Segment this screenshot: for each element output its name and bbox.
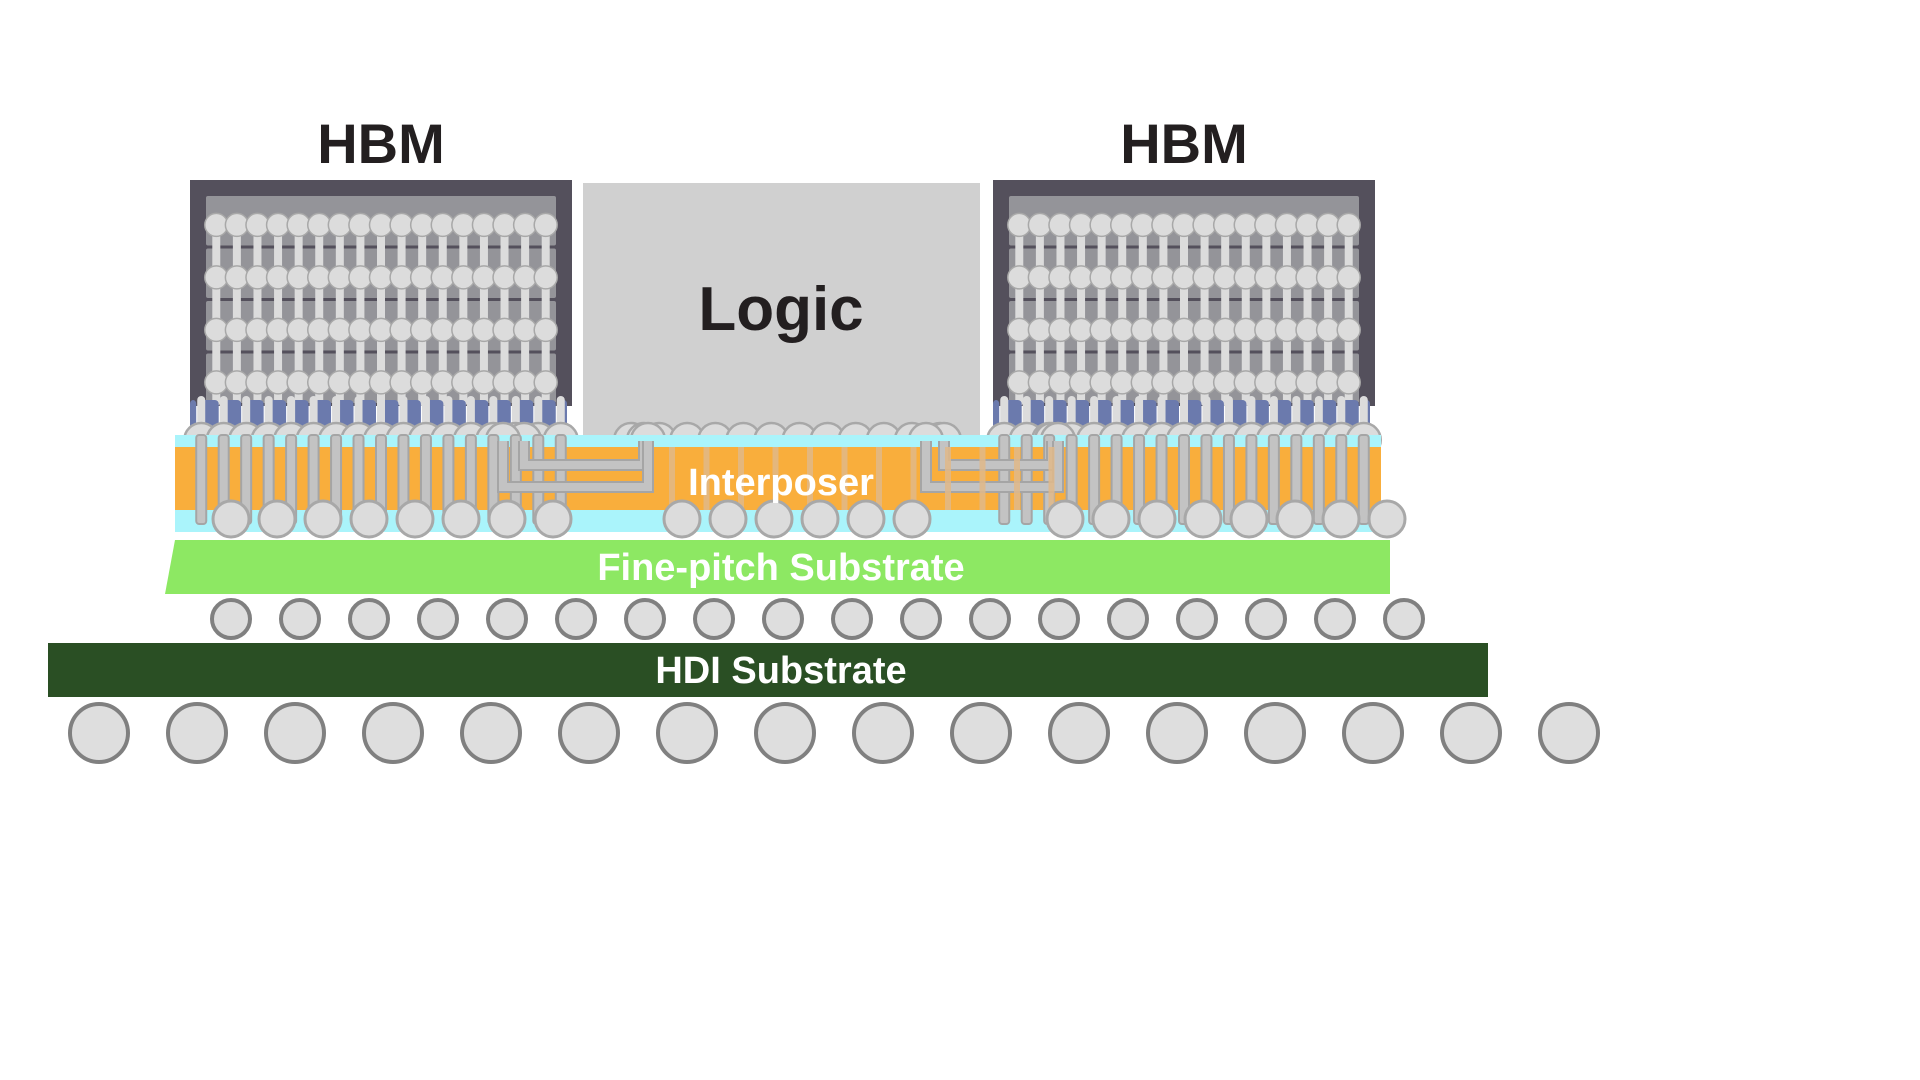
tsv-microbump	[411, 318, 434, 341]
bga-ball-mid	[695, 600, 733, 638]
tsv-microbump	[493, 213, 516, 236]
tsv-microbump	[1152, 213, 1175, 236]
tsv-microbump	[1090, 318, 1113, 341]
tsv-microbump	[1234, 318, 1257, 341]
bga-ball-mid	[764, 600, 802, 638]
tsv-microbump	[1152, 266, 1175, 289]
bga-ball-bottom	[952, 704, 1010, 762]
tsv-microbump	[1275, 213, 1298, 236]
tsv-microbump	[308, 371, 331, 394]
tsv-microbump	[267, 318, 290, 341]
tsv-microbump	[1173, 318, 1196, 341]
tsv-microbump	[431, 213, 454, 236]
tsv-microbump	[1008, 371, 1031, 394]
tsv-microbump	[534, 318, 557, 341]
tsv-microbump	[1317, 371, 1340, 394]
tsv-microbump	[514, 266, 537, 289]
interposer-via	[1022, 435, 1032, 524]
bga-ball-mid	[1178, 600, 1216, 638]
tsv-microbump	[452, 266, 475, 289]
tsv-microbump	[246, 318, 269, 341]
package-cross-section-diagram: HBMHBMLogicInterposerFine-pitch Substrat…	[0, 0, 1920, 1080]
tsv-microbump	[328, 213, 351, 236]
tsv-microbump	[1193, 213, 1216, 236]
tsv-microbump	[205, 371, 228, 394]
bga-ball-mid	[1316, 600, 1354, 638]
tsv-microbump	[205, 318, 228, 341]
bga-ball-mid	[557, 600, 595, 638]
tsv-microbump	[1049, 266, 1072, 289]
tsv-microbump	[1296, 213, 1319, 236]
tsv-microbump	[472, 213, 495, 236]
tsv-microbump	[1111, 266, 1134, 289]
tsv-microbump	[1234, 266, 1257, 289]
tsv-microbump	[1214, 213, 1237, 236]
tsv-microbump	[493, 266, 516, 289]
tsv-microbump	[452, 371, 475, 394]
tsv-microbump	[205, 213, 228, 236]
interposer-via	[196, 435, 206, 524]
bga-ball-mid	[212, 600, 250, 638]
tsv-microbump	[1090, 371, 1113, 394]
tsv-microbump	[390, 318, 413, 341]
tsv-microbump	[287, 318, 310, 341]
tsv-microbump	[1317, 266, 1340, 289]
bga-ball-mid	[971, 600, 1009, 638]
c4-bump	[397, 501, 433, 537]
tsv-microbump	[246, 371, 269, 394]
c4-bump	[894, 501, 930, 537]
c4-bump	[710, 501, 746, 537]
tsv-microbump	[493, 318, 516, 341]
bga-ball-bottom	[1540, 704, 1598, 762]
tsv-microbump	[308, 266, 331, 289]
tsv-microbump	[493, 371, 516, 394]
tsv-microbump	[1193, 266, 1216, 289]
interposer-via	[999, 435, 1009, 524]
bga-ball-mid	[350, 600, 388, 638]
tsv-microbump	[246, 266, 269, 289]
tsv-microbump	[534, 371, 557, 394]
tsv-microbump	[1131, 213, 1154, 236]
tsv-microbump	[1028, 266, 1051, 289]
bga-ball-mid	[902, 600, 940, 638]
tsv-microbump	[246, 213, 269, 236]
bga-ball-mid	[419, 600, 457, 638]
tsv-microbump	[1296, 266, 1319, 289]
tsv-microbump	[349, 213, 372, 236]
c4-bump	[535, 501, 571, 537]
tsv-microbump	[225, 213, 248, 236]
bga-ball-bottom	[1442, 704, 1500, 762]
tsv-microbump	[328, 266, 351, 289]
tsv-microbump	[514, 318, 537, 341]
tsv-microbump	[431, 266, 454, 289]
tsv-microbump	[1234, 371, 1257, 394]
c4-bump	[443, 501, 479, 537]
tsv-microbump	[1214, 371, 1237, 394]
solder-ball-row-bottom	[70, 704, 1598, 762]
tsv-microbump	[1070, 213, 1093, 236]
tsv-microbump	[287, 266, 310, 289]
tsv-microbump	[452, 318, 475, 341]
c4-bump	[1185, 501, 1221, 537]
tsv-microbump	[1296, 371, 1319, 394]
tsv-microbump	[287, 371, 310, 394]
tsv-microbump	[452, 213, 475, 236]
tsv-microbump	[370, 371, 393, 394]
bga-ball-mid	[488, 600, 526, 638]
tsv-microbump	[1028, 318, 1051, 341]
tsv-microbump	[1111, 213, 1134, 236]
tsv-microbump	[1275, 266, 1298, 289]
tsv-microbump	[225, 318, 248, 341]
tsv-microbump	[411, 213, 434, 236]
tsv-microbump	[1070, 371, 1093, 394]
tsv-microbump	[431, 318, 454, 341]
tsv-microbump	[514, 371, 537, 394]
tsv-microbump	[1070, 318, 1093, 341]
tsv-microbump	[1214, 266, 1237, 289]
bga-ball-bottom	[1246, 704, 1304, 762]
bga-ball-bottom	[70, 704, 128, 762]
tsv-microbump	[1008, 266, 1031, 289]
tsv-microbump	[328, 371, 351, 394]
tsv-microbump	[1337, 213, 1360, 236]
tsv-microbump	[1234, 213, 1257, 236]
tsv-microbump	[1255, 213, 1278, 236]
tsv-microbump	[370, 266, 393, 289]
tsv-microbump	[390, 371, 413, 394]
tsv-microbump	[225, 266, 248, 289]
tsv-microbump	[267, 266, 290, 289]
bga-ball-mid	[1109, 600, 1147, 638]
interposer-via	[1359, 435, 1369, 524]
tsv-microbump	[1049, 213, 1072, 236]
c4-bump	[664, 501, 700, 537]
bga-ball-mid	[1247, 600, 1285, 638]
bga-ball-bottom	[756, 704, 814, 762]
bga-ball-mid	[833, 600, 871, 638]
tsv-microbump	[1028, 213, 1051, 236]
tsv-copper-line	[876, 447, 882, 510]
tsv-microbump	[1173, 266, 1196, 289]
bga-ball-bottom	[1050, 704, 1108, 762]
tsv-microbump	[1070, 266, 1093, 289]
tsv-microbump	[1193, 371, 1216, 394]
c4-bump	[1277, 501, 1313, 537]
logic-die-label: Logic	[698, 275, 863, 344]
c4-bump	[802, 501, 838, 537]
bga-ball-bottom	[364, 704, 422, 762]
tsv-microbump	[1255, 318, 1278, 341]
c4-bump	[1231, 501, 1267, 537]
bga-ball-bottom	[1344, 704, 1402, 762]
tsv-microbump	[1090, 213, 1113, 236]
tsv-microbump	[1317, 318, 1340, 341]
c4-bump	[351, 501, 387, 537]
tsv-copper-line	[980, 447, 986, 510]
c4-bump	[1323, 501, 1359, 537]
tsv-microbump	[328, 318, 351, 341]
tsv-microbump	[308, 213, 331, 236]
tsv-microbump	[1028, 371, 1051, 394]
tsv-microbump	[1152, 371, 1175, 394]
tsv-microbump	[411, 371, 434, 394]
interposer-label: Interposer	[688, 462, 874, 504]
tsv-microbump	[205, 266, 228, 289]
tsv-microbump	[1131, 266, 1154, 289]
tsv-microbump	[1317, 213, 1340, 236]
tsv-microbump	[1131, 371, 1154, 394]
tsv-microbump	[534, 213, 557, 236]
tsv-microbump	[1173, 371, 1196, 394]
tsv-microbump	[1049, 371, 1072, 394]
tsv-microbump	[431, 371, 454, 394]
tsv-microbump	[1111, 371, 1134, 394]
tsv-microbump	[1152, 318, 1175, 341]
c4-bump	[1369, 501, 1405, 537]
tsv-microbump	[1131, 318, 1154, 341]
tsv-copper-line	[945, 447, 951, 510]
tsv-microbump	[390, 266, 413, 289]
tsv-microbump	[1008, 318, 1031, 341]
tsv-microbump	[1049, 318, 1072, 341]
interposer-via	[1314, 435, 1324, 524]
tsv-microbump	[1296, 318, 1319, 341]
tsv-microbump	[1337, 266, 1360, 289]
bga-ball-mid	[1385, 600, 1423, 638]
tsv-microbump	[1111, 318, 1134, 341]
tsv-microbump	[1173, 213, 1196, 236]
bga-ball-bottom	[854, 704, 912, 762]
bga-ball-mid	[281, 600, 319, 638]
bga-ball-bottom	[658, 704, 716, 762]
bga-ball-bottom	[168, 704, 226, 762]
hbm-stack-right[interactable]	[993, 180, 1375, 406]
tsv-copper-line	[669, 447, 675, 510]
tsv-microbump	[1193, 318, 1216, 341]
tsv-copper-line	[1049, 447, 1055, 510]
tsv-microbump	[349, 266, 372, 289]
tsv-microbump	[472, 266, 495, 289]
c4-bump	[259, 501, 295, 537]
tsv-microbump	[370, 213, 393, 236]
fine-pitch-substrate-label: Fine-pitch Substrate	[597, 547, 964, 589]
bga-ball-bottom	[560, 704, 618, 762]
tsv-microbump	[1275, 318, 1298, 341]
c4-bump	[1093, 501, 1129, 537]
hbm-left-label: HBM	[317, 112, 445, 175]
solder-ball-row-mid	[212, 600, 1423, 638]
bga-ball-bottom	[462, 704, 520, 762]
c4-bump	[213, 501, 249, 537]
bga-ball-bottom	[266, 704, 324, 762]
tsv-microbump	[1337, 371, 1360, 394]
c4-bump	[1139, 501, 1175, 537]
c4-bump	[305, 501, 341, 537]
tsv-microbump	[349, 371, 372, 394]
tsv-microbump	[514, 213, 537, 236]
tsv-microbump	[411, 266, 434, 289]
tsv-microbump	[267, 371, 290, 394]
tsv-microbump	[1214, 318, 1237, 341]
c4-bump	[1047, 501, 1083, 537]
tsv-microbump	[1008, 213, 1031, 236]
tsv-microbump	[1337, 318, 1360, 341]
tsv-microbump	[308, 318, 331, 341]
bga-ball-mid	[626, 600, 664, 638]
tsv-microbump	[472, 318, 495, 341]
tsv-microbump	[390, 213, 413, 236]
tsv-microbump	[349, 318, 372, 341]
tsv-microbump	[1255, 266, 1278, 289]
tsv-copper-line	[1014, 447, 1020, 510]
diagram-canvas: HBMHBMLogicInterposerFine-pitch Substrat…	[0, 0, 1920, 1080]
hbm-right-label: HBM	[1120, 112, 1248, 175]
c4-bump	[489, 501, 525, 537]
bga-ball-bottom	[1148, 704, 1206, 762]
tsv-microbump	[1090, 266, 1113, 289]
tsv-microbump	[1255, 371, 1278, 394]
tsv-microbump	[225, 371, 248, 394]
c4-bump	[756, 501, 792, 537]
tsv-microbump	[1275, 371, 1298, 394]
tsv-microbump	[370, 318, 393, 341]
tsv-microbump	[267, 213, 290, 236]
tsv-microbump	[534, 266, 557, 289]
tsv-microbump	[472, 371, 495, 394]
hdi-substrate-label: HDI Substrate	[655, 650, 906, 692]
bga-ball-mid	[1040, 600, 1078, 638]
hbm-stack-left[interactable]	[190, 180, 572, 406]
tsv-microbump	[287, 213, 310, 236]
c4-bump	[848, 501, 884, 537]
